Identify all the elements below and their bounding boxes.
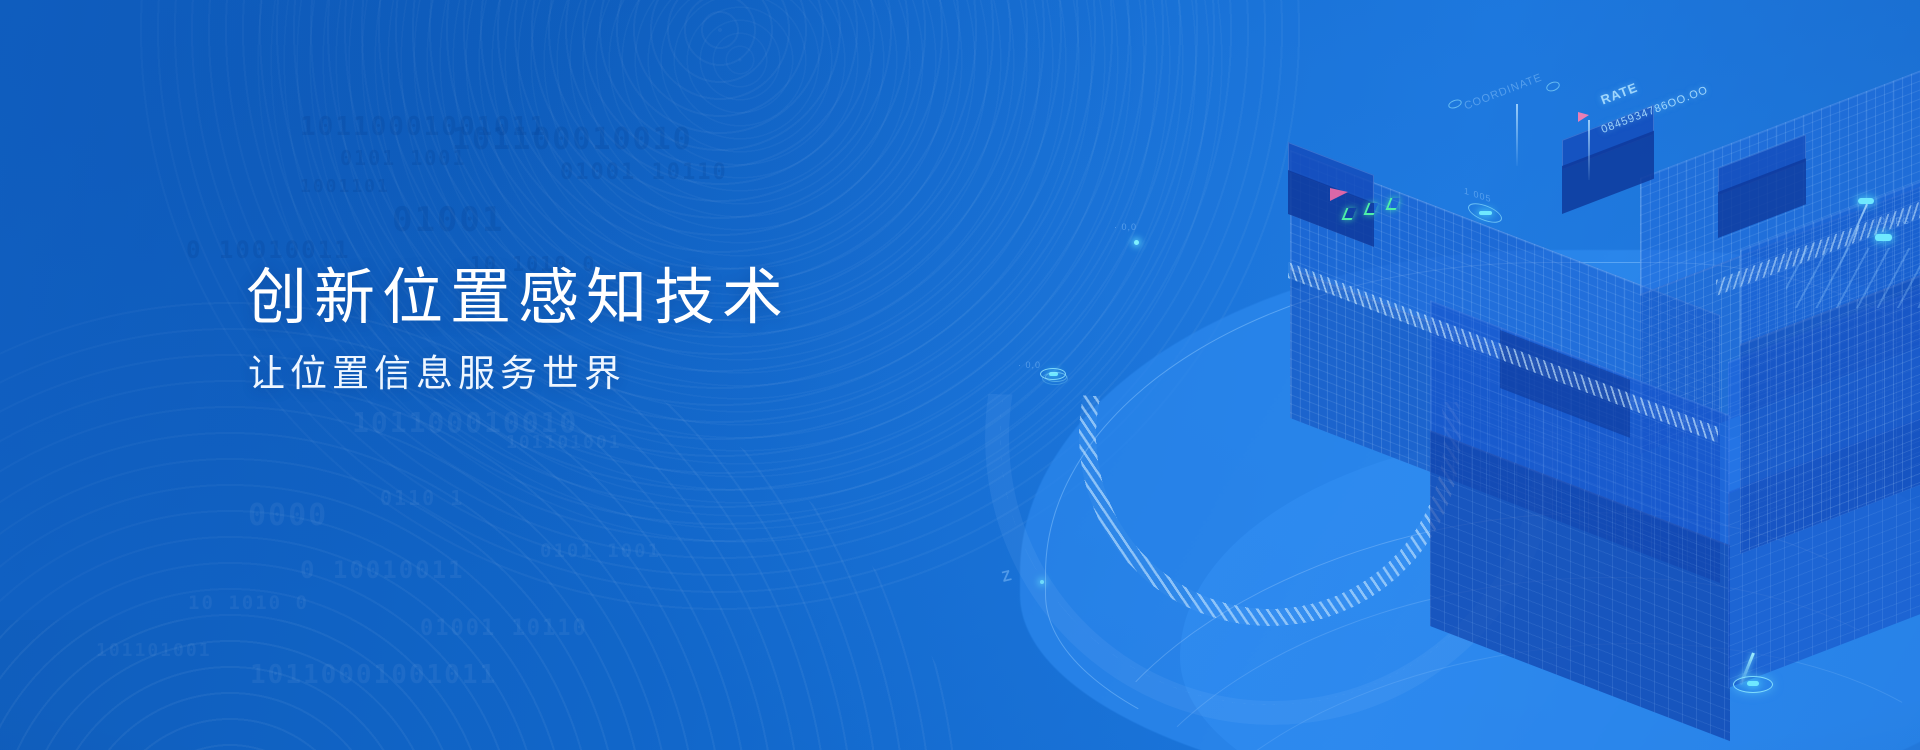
rate-value: 0845934786OO.OO: [1600, 84, 1710, 136]
hero-banner: 10110001001011 0101 1001 101100010010 01…: [0, 0, 1920, 750]
glow-dot-icon: [1134, 240, 1139, 245]
binary-text: 1001101: [300, 176, 390, 197]
hero-copy: 创新位置感知技术 让位置信息服务世界: [246, 262, 790, 396]
coordinate-ring-icon-2: [1545, 80, 1561, 93]
iso-face-top: [1290, 150, 1720, 435]
binary-text: 0 10010011: [186, 236, 351, 264]
ground-ring-dot: [1049, 372, 1058, 376]
right-marker-pole: [1836, 204, 1867, 272]
iso-face-right: [1640, 179, 1920, 454]
slab-ring-dot: [1479, 211, 1492, 215]
iso-face-top: [1430, 300, 1730, 547]
iso-face-top: [1718, 134, 1806, 196]
binary-text: 0110 1: [380, 486, 464, 510]
binary-text: 0 10010011: [300, 556, 465, 584]
iso-face-top: [1740, 169, 1920, 346]
coordinate-pole: [1516, 104, 1518, 166]
binary-text: 101100010010: [352, 406, 578, 439]
iso-edge-hatch-right: [1716, 165, 1920, 296]
binary-text: 10 1010 0: [188, 592, 309, 614]
rate-label: RATE: [1599, 80, 1640, 108]
terrain-shape: [1020, 250, 1920, 750]
tick-label-mid: 1 005: [1464, 186, 1492, 205]
glow-dash-icon: [1858, 198, 1874, 204]
z-marker-icon: Z: [1000, 567, 1013, 586]
iso-face-right-top: [1728, 235, 1920, 494]
tick-label-left: · 0,0: [1114, 222, 1137, 232]
binary-text: 0101 1001: [340, 146, 466, 170]
iso-face-right: [1728, 365, 1920, 688]
page-subtitle: 让位置信息服务世界: [248, 352, 790, 396]
binary-text: 01001 10110: [560, 160, 728, 185]
iso-edge-hatch-left: [1288, 262, 1718, 443]
binary-text: 01001: [392, 200, 504, 240]
iso-face-side: [1718, 158, 1806, 238]
beacon-core-dot: [1747, 681, 1759, 686]
rate-pole: [1588, 120, 1590, 180]
iso-face-notch: [1500, 330, 1630, 438]
coordinate-label: COORDINATE: [1463, 72, 1544, 113]
green-bracket-icon: [1342, 208, 1357, 220]
page-title: 创新位置感知技术: [246, 262, 790, 334]
triangle-marker-icon-2: [1330, 188, 1348, 201]
terrain-outline: [1045, 262, 1920, 750]
iso-face-side: [1288, 170, 1374, 247]
radar-ring-icon: [973, 138, 1566, 731]
faint-ring-icon: [1045, 372, 1067, 382]
binary-text: 101100010010: [452, 122, 693, 157]
faint-ring-icon-outer: [1042, 372, 1068, 385]
coordinate-ring-icon: [1447, 98, 1463, 110]
iso-face-top: [1562, 105, 1654, 170]
iso-face-left: [1430, 430, 1730, 741]
ground-ring-icon: [1040, 368, 1066, 380]
iso-face-side: [1562, 131, 1654, 214]
green-bracket-icon: [1364, 203, 1379, 215]
beacon-pole: [1739, 652, 1755, 685]
iso-face-left: [1290, 268, 1720, 583]
thin-arc-3: [1128, 602, 1920, 750]
binary-text: 101101001: [506, 432, 622, 453]
binary-text: 0101 1001: [540, 540, 661, 562]
radar-ring-glow-icon: [957, 122, 1589, 750]
glow-dash-icon: [1875, 234, 1892, 241]
diagonal-ticks: [1786, 248, 1920, 308]
thin-arc-2: [1069, 523, 1920, 750]
binary-text: 10110001001011: [300, 112, 547, 142]
iso-face-top: [1288, 142, 1374, 205]
binary-text: 10110001001011: [250, 660, 497, 690]
triangle-marker-icon: [1578, 112, 1589, 122]
thin-arc-1: [1022, 446, 1920, 750]
tick-label-right: 0 0FG: [1880, 216, 1910, 226]
binary-text: 01001 10110: [420, 616, 588, 641]
terrain-shape-inner: [1180, 430, 1920, 750]
binary-text: 0000: [248, 498, 328, 533]
binary-text: 101101001: [96, 640, 212, 661]
slab-ring-icon: [1468, 199, 1502, 226]
glow-dot-icon: [1040, 580, 1044, 584]
tick-label-ground: · 0,0: [1018, 360, 1041, 370]
iso-face-right: [1740, 263, 1920, 554]
iso-face-top: [1640, 63, 1920, 296]
location-beacon-icon: [1733, 676, 1773, 693]
green-bracket-icon: [1386, 198, 1401, 210]
